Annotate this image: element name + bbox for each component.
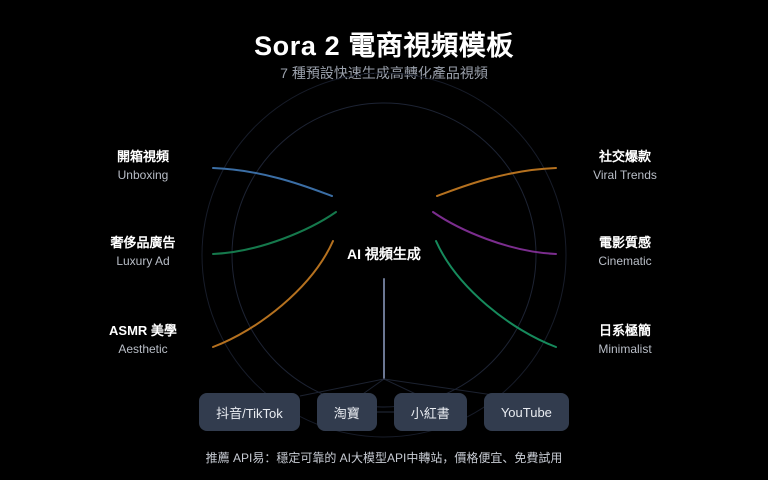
node-minimalist-label-zh: 日系極簡 xyxy=(560,322,690,339)
infographic-canvas: Sora 2 電商視頻模板 7 種預設快速生成高轉化產品視頻 開箱視頻 Unbo… xyxy=(0,0,768,480)
node-viral-trends[interactable]: 社交爆款 Viral Trends xyxy=(560,148,690,184)
node-unboxing-label-zh: 開箱視頻 xyxy=(78,148,208,165)
node-aesthetic[interactable]: ASMR 美學 Aesthetic xyxy=(78,322,208,358)
node-unboxing[interactable]: 開箱視頻 Unboxing xyxy=(78,148,208,184)
center-node-label: AI 視頻生成 xyxy=(0,244,768,264)
platform-chip-xiaohongshu[interactable]: 小紅書 xyxy=(394,393,467,431)
branch-curve-unboxing xyxy=(213,168,332,196)
platform-chip-row: 抖音/TikTok 淘寶 小紅書 YouTube xyxy=(0,393,768,431)
platform-chip-douyin-tiktok[interactable]: 抖音/TikTok xyxy=(199,393,300,431)
node-viral-trends-label-en: Viral Trends xyxy=(560,167,690,184)
footer-note: 推薦 API易：穩定可靠的 AI大模型API中轉站，價格便宜、免費試用 xyxy=(0,449,768,466)
node-unboxing-label-en: Unboxing xyxy=(78,167,208,184)
platform-chip-youtube[interactable]: YouTube xyxy=(484,393,569,431)
branch-curve-viral-trends xyxy=(437,168,556,196)
node-viral-trends-label-zh: 社交爆款 xyxy=(560,148,690,165)
platform-chip-taobao[interactable]: 淘寶 xyxy=(317,393,377,431)
node-aesthetic-label-zh: ASMR 美學 xyxy=(78,322,208,339)
node-minimalist-label-en: Minimalist xyxy=(560,341,690,358)
node-aesthetic-label-en: Aesthetic xyxy=(78,341,208,358)
node-minimalist[interactable]: 日系極簡 Minimalist xyxy=(560,322,690,358)
